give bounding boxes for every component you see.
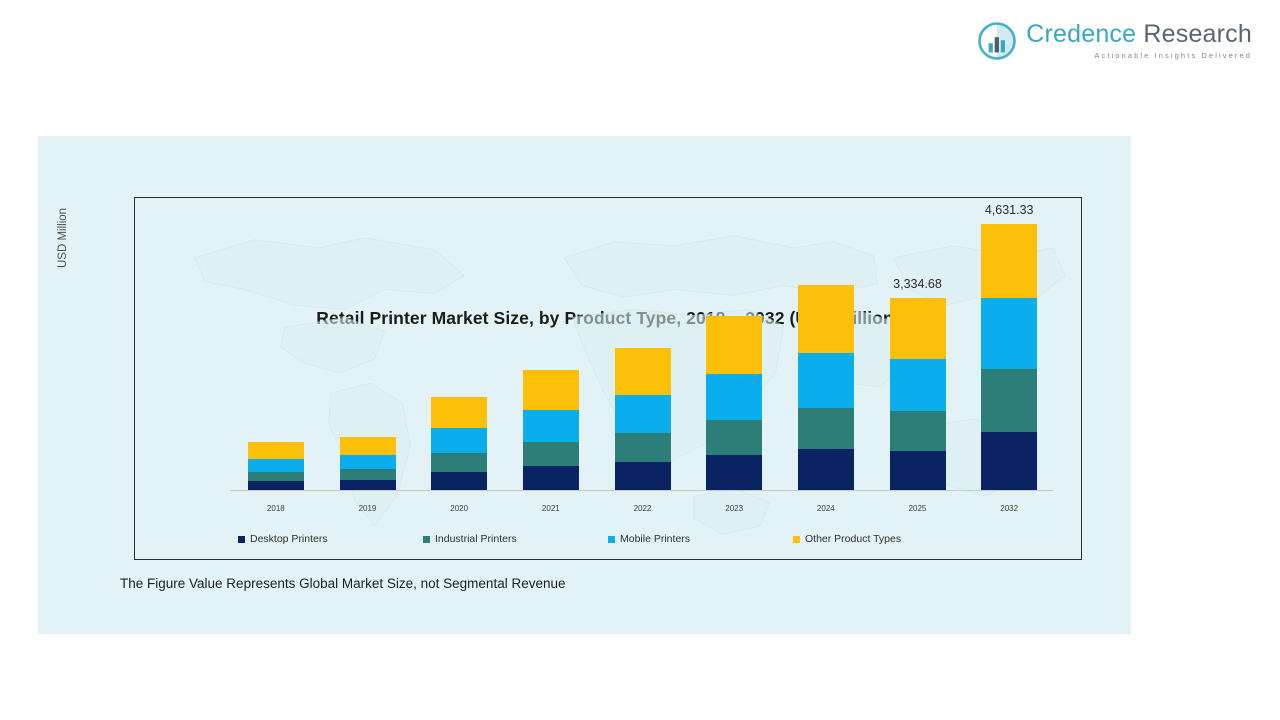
bar-segment[interactable] bbox=[248, 459, 304, 472]
bar-segment[interactable] bbox=[981, 298, 1037, 370]
bar-value-label: 4,631.33 bbox=[985, 203, 1034, 217]
legend-swatch-icon bbox=[793, 536, 800, 543]
legend-swatch-icon bbox=[238, 536, 245, 543]
legend-item[interactable]: Mobile Printers bbox=[608, 533, 793, 545]
x-axis-line bbox=[230, 490, 1053, 491]
bar-segment[interactable] bbox=[706, 374, 762, 420]
legend-item[interactable]: Industrial Printers bbox=[423, 533, 608, 545]
bar-segment[interactable] bbox=[340, 437, 396, 455]
bar-segment[interactable] bbox=[340, 455, 396, 469]
credence-bar-chart-circle-icon bbox=[978, 22, 1016, 60]
bar-segment[interactable] bbox=[615, 395, 671, 433]
bar-segment[interactable] bbox=[431, 472, 487, 491]
legend-item[interactable]: Other Product Types bbox=[793, 533, 978, 545]
bar-2024[interactable] bbox=[798, 285, 854, 491]
x-tick-2024: 2024 bbox=[780, 504, 872, 513]
brand-name-second: Research bbox=[1143, 20, 1252, 48]
bar-2032[interactable]: 4,631.33 bbox=[981, 224, 1037, 491]
x-tick-2022: 2022 bbox=[597, 504, 689, 513]
brand-name-first: Credence bbox=[1026, 20, 1136, 48]
brand-tagline: Actionable Insights Delivered bbox=[1026, 52, 1252, 60]
bar-segment[interactable] bbox=[431, 453, 487, 472]
bar-segment[interactable] bbox=[798, 408, 854, 449]
bar-segment[interactable] bbox=[615, 462, 671, 491]
bar-segment[interactable] bbox=[890, 451, 946, 491]
bar-2023[interactable] bbox=[706, 316, 762, 491]
x-tick-2019: 2019 bbox=[322, 504, 414, 513]
bar-segment[interactable] bbox=[981, 432, 1037, 491]
bar-segment[interactable] bbox=[798, 353, 854, 408]
chart-footnote: The Figure Value Represents Global Marke… bbox=[120, 576, 566, 591]
bar-segment[interactable] bbox=[890, 359, 946, 411]
x-tick-2020: 2020 bbox=[413, 504, 505, 513]
legend-label: Desktop Printers bbox=[250, 533, 328, 545]
brand-text: Credence Research Actionable Insights De… bbox=[1026, 22, 1252, 60]
bar-segment[interactable] bbox=[523, 370, 579, 410]
legend-item[interactable]: Desktop Printers bbox=[238, 533, 423, 545]
bar-2021[interactable] bbox=[523, 370, 579, 491]
bar-segment[interactable] bbox=[248, 442, 304, 458]
bar-2025[interactable]: 3,334.68 bbox=[890, 298, 946, 491]
x-tick-2032: 2032 bbox=[963, 504, 1055, 513]
legend-swatch-icon bbox=[608, 536, 615, 543]
chart-canvas: 3,334.684,631.33 Desktop PrintersIndustr… bbox=[134, 197, 1082, 560]
chart-panel: Retail Printer Market Size, by Product T… bbox=[38, 136, 1131, 634]
bar-segment[interactable] bbox=[798, 449, 854, 491]
bar-segment[interactable] bbox=[340, 469, 396, 480]
bar-2022[interactable] bbox=[615, 347, 671, 491]
x-tick-2025: 2025 bbox=[872, 504, 964, 513]
bar-segment[interactable] bbox=[248, 472, 304, 482]
plot-area: 3,334.684,631.33 bbox=[230, 210, 1053, 491]
bar-2019[interactable] bbox=[340, 437, 396, 491]
brand-name: Credence Research bbox=[1026, 22, 1252, 47]
bar-segment[interactable] bbox=[615, 433, 671, 462]
bar-segment[interactable] bbox=[523, 442, 579, 466]
bar-segment[interactable] bbox=[431, 428, 487, 453]
x-tick-2023: 2023 bbox=[688, 504, 780, 513]
bar-segment[interactable] bbox=[706, 316, 762, 374]
bar-segment[interactable] bbox=[981, 224, 1037, 298]
bar-segment[interactable] bbox=[523, 410, 579, 442]
bar-segment[interactable] bbox=[523, 466, 579, 491]
bar-segment[interactable] bbox=[706, 455, 762, 491]
bar-segment[interactable] bbox=[798, 285, 854, 353]
bar-2020[interactable] bbox=[431, 397, 487, 491]
legend-label: Industrial Printers bbox=[435, 533, 517, 545]
bar-segment[interactable] bbox=[890, 298, 946, 359]
bar-segment[interactable] bbox=[431, 397, 487, 428]
bar-segment[interactable] bbox=[981, 369, 1037, 432]
bar-value-label: 3,334.68 bbox=[893, 277, 942, 291]
legend-label: Other Product Types bbox=[805, 533, 901, 545]
bar-segment[interactable] bbox=[706, 420, 762, 455]
legend-swatch-icon bbox=[423, 536, 430, 543]
x-tick-2021: 2021 bbox=[505, 504, 597, 513]
legend-label: Mobile Printers bbox=[620, 533, 690, 545]
chart-legend: Desktop PrintersIndustrial PrintersMobil… bbox=[135, 533, 1081, 545]
bar-2018[interactable] bbox=[248, 442, 304, 491]
y-axis-label: USD Million bbox=[57, 208, 69, 268]
brand-logo: Credence Research Actionable Insights De… bbox=[978, 22, 1252, 60]
bar-segment[interactable] bbox=[890, 411, 946, 451]
x-tick-2018: 2018 bbox=[230, 504, 322, 513]
bar-segment[interactable] bbox=[615, 348, 671, 395]
